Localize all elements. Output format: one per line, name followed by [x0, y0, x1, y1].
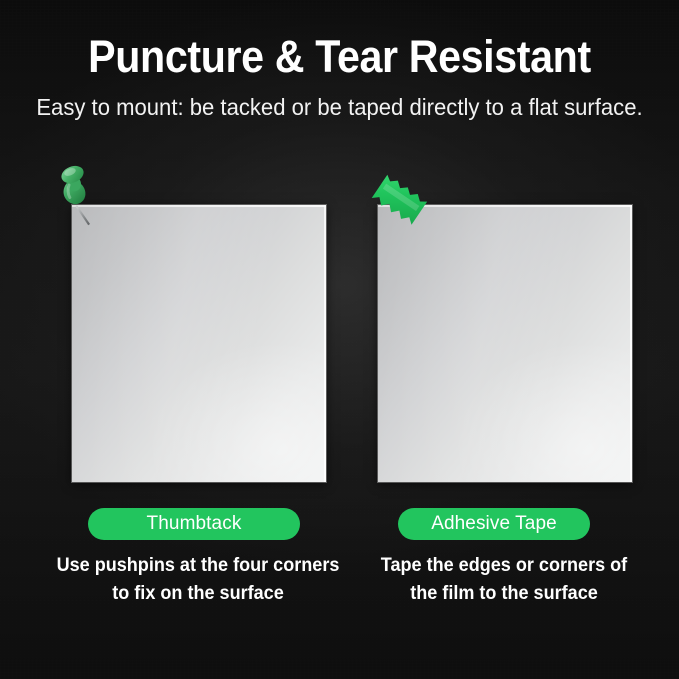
sheet-right-edge-highlight [630, 205, 632, 482]
caption-adhesive-tape-line-2: the film to the surface [362, 580, 647, 608]
film-sheet-tape [378, 205, 632, 482]
caption-thumbtack: Use pushpins at the four corners to fix … [56, 552, 341, 607]
page-subtitle: Easy to mount: be tacked or be taped dir… [14, 94, 666, 122]
sheet-right-edge-highlight [324, 205, 326, 482]
sheet-gloss-highlight [72, 205, 326, 482]
film-sheet-thumbtack [72, 205, 326, 482]
panel-adhesive-tape: Adhesive Tape Tape the edges or corners … [354, 155, 654, 610]
caption-thumbtack-line-1: Use pushpins at the four corners [56, 552, 341, 580]
panel-thumbtack: Thumbtack Use pushpins at the four corne… [48, 155, 348, 610]
badge-adhesive-tape: Adhesive Tape [398, 508, 590, 540]
badge-adhesive-tape-label: Adhesive Tape [431, 513, 557, 535]
badge-thumbtack-label: Thumbtack [147, 513, 242, 535]
pushpin-icon [48, 163, 128, 243]
caption-thumbtack-line-2: to fix on the surface [56, 580, 341, 608]
product-feature-poster: Puncture & Tear Resistant Easy to mount:… [0, 0, 679, 679]
page-title: Puncture & Tear Resistant [29, 33, 650, 82]
sheet-gloss-highlight [378, 205, 632, 482]
caption-adhesive-tape-line-1: Tape the edges or corners of [362, 552, 647, 580]
badge-thumbtack: Thumbtack [88, 508, 300, 540]
caption-adhesive-tape: Tape the edges or corners of the film to… [362, 552, 647, 607]
tape-strip-icon [358, 165, 448, 245]
